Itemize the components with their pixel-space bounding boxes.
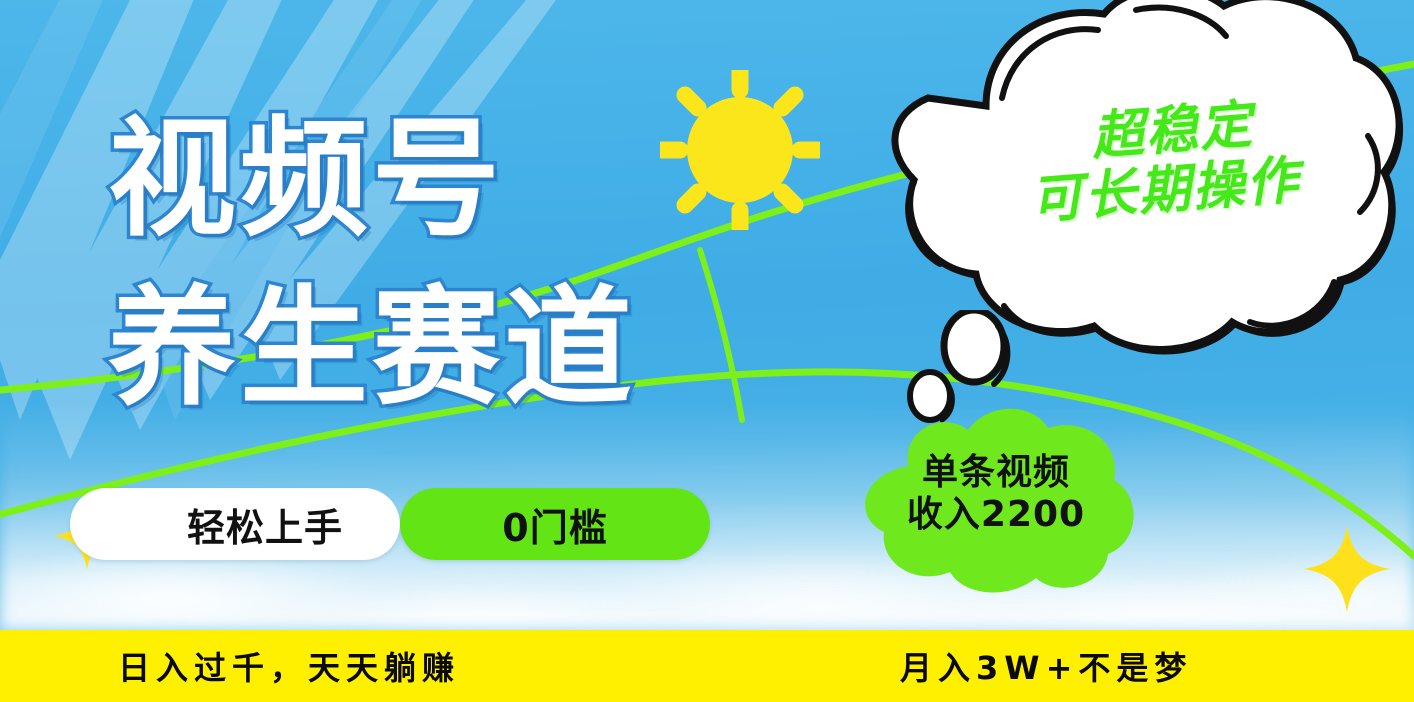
feature-pills: 轻松上手 0门槛 — [140, 488, 710, 560]
bottom-bar-right-text: 月入3W+不是梦 — [900, 643, 1192, 689]
bottom-bar-left-text: 日入过千，天天躺赚 — [118, 643, 460, 689]
headline: 视频号 养生赛道 — [108, 96, 636, 434]
bottom-bar: 日入过千，天天躺赚 月入3W+不是梦 — [0, 630, 1414, 702]
pill-badge-easy[interactable]: 轻松上手 — [70, 488, 400, 560]
headline-line2: 养生赛道 — [108, 265, 636, 434]
sparkle-icon — [1302, 522, 1392, 616]
sun-icon — [660, 70, 820, 230]
pill-badge-no-barrier[interactable]: 0门槛 — [400, 488, 710, 560]
income-badge — [846, 404, 1146, 596]
headline-line1: 视频号 — [108, 96, 636, 265]
promo-banner: 超稳定 可长期操作 单条视频 收入2200 视频号 养生赛道 轻松上手 0门槛 … — [0, 0, 1414, 702]
